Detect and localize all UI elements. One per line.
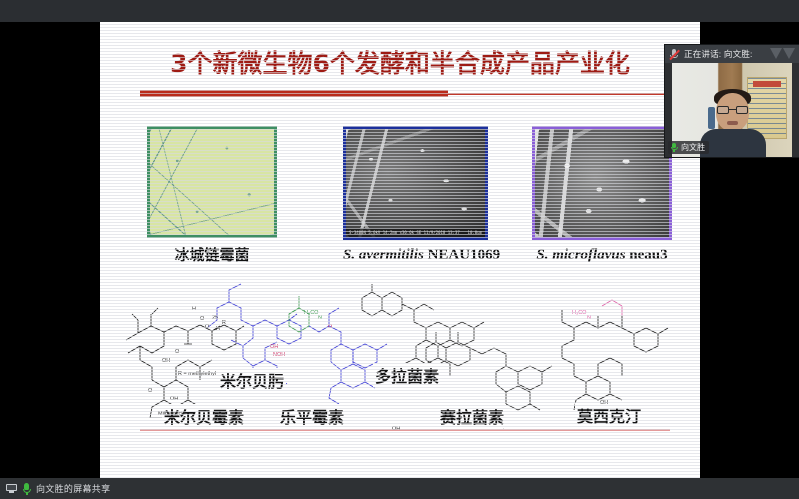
- micrograph-item: 冰城链霉菌: [147, 126, 277, 265]
- micrograph-caption-2: S. avermitilis NEAU1069: [343, 246, 488, 264]
- presentation-slide: 3个新微生物6个发酵和半合成产品产业化 冰城链霉菌 S-3400N 5.0kV …: [100, 22, 700, 478]
- chem-annotation: O: [148, 388, 152, 394]
- chem-annotation: OH: [392, 426, 400, 432]
- strain-roman: neau3: [629, 247, 667, 263]
- microphone-active-icon: [670, 143, 678, 153]
- chem-annotation: O: [175, 349, 179, 355]
- species-italic: S. avermitilis: [343, 247, 428, 263]
- title-rule-thick: [140, 90, 448, 97]
- strain-roman: NEAU1069: [428, 247, 501, 263]
- micrograph-item: S-3400N 5.0kV 14.2mm x30.0k SE 11/9/2010…: [343, 126, 488, 264]
- micrograph-row: 冰城链霉菌 S-3400N 5.0kV 14.2mm x30.0k SE 11/…: [100, 126, 700, 288]
- microphone-icon: [22, 483, 31, 495]
- video-thumbnail-panel[interactable]: 正在讲话: 向文胜: 向文胜: [665, 45, 799, 157]
- chem-annotation: H: [192, 306, 196, 312]
- chem-name-label: 米尔贝肟: [218, 368, 286, 392]
- video-panel-header[interactable]: 正在讲话: 向文胜:: [665, 45, 799, 63]
- active-speaker-label: 正在讲话: 向文胜:: [684, 48, 753, 60]
- micrograph-image-2: S-3400N 5.0kV 14.2mm x30.0k SE 11/9/2010…: [343, 126, 488, 240]
- chem-annotation: OH: [270, 344, 278, 350]
- participant-mouth: [727, 121, 738, 125]
- chem-annotation: H₃CO: [572, 310, 586, 316]
- sem-scalebar-left: S-3400N 5.0kV 14.2mm x30.0k SE 11/9/2010…: [349, 228, 460, 237]
- chem-name-label: 乐平霉素: [278, 404, 346, 428]
- chem-annotation: OH: [600, 400, 608, 406]
- chem-annotation: 25: [212, 315, 218, 321]
- top-toolbar: [0, 0, 799, 22]
- participant-name: 向文胜: [681, 142, 705, 153]
- chem-annotation: O: [328, 324, 332, 330]
- microphone-muted-icon[interactable]: [669, 49, 679, 60]
- screen-root: 3个新微生物6个发酵和半合成产品产业化 冰城链霉菌 S-3400N 5.0kV …: [0, 0, 799, 499]
- chevron-collapse-icon[interactable]: [770, 48, 795, 59]
- slide-title: 3个新微生物6个发酵和半合成产品产业化: [100, 44, 700, 80]
- bottom-status-bar: 向文胜的屏幕共享: [0, 478, 799, 499]
- micrograph-caption-3: S. microflavus neau3: [532, 246, 672, 264]
- chem-annotation: N: [587, 315, 591, 321]
- micrograph-item: S. microflavus neau3: [532, 126, 672, 264]
- chem-name-label: 莫西克汀: [575, 403, 643, 427]
- video-feed[interactable]: 向文胜: [665, 63, 799, 157]
- species-italic: S. microflavus: [536, 247, 629, 263]
- monitor-icon: [6, 484, 17, 493]
- structure-moxidectin: [552, 294, 672, 410]
- chem-annotation: R = methylethyl: [178, 371, 216, 377]
- chem-annotation: R: [222, 320, 226, 326]
- chem-annotation: Milbemycin: [158, 411, 186, 417]
- chem-annotation: O: [200, 316, 204, 322]
- micrograph-caption-1: 冰城链霉菌: [147, 244, 277, 265]
- chem-name-label: 赛拉菌素: [438, 404, 506, 428]
- chemical-structures-band: 米尔贝肟 米尔贝霉素 乐平霉素 多拉菌素 赛拉菌素 莫西克汀 Milbemyci…: [100, 290, 700, 430]
- chem-annotation: OH: [170, 396, 178, 402]
- participant-name-badge: 向文胜: [668, 141, 709, 154]
- shared-screen-area[interactable]: 3个新微生物6个发酵和半合成产品产业化 冰城链霉菌 S-3400N 5.0kV …: [100, 22, 700, 478]
- held-object: [708, 107, 715, 129]
- micrograph-image-3: [532, 126, 672, 240]
- sem-scalebar: S-3400N 5.0kV 14.2mm x30.0k SE 11/9/2010…: [346, 228, 485, 237]
- chem-annotation: N: [318, 315, 322, 321]
- screen-share-status-label: 向文胜的屏幕共享: [36, 482, 110, 495]
- chem-annotation: H: [216, 326, 220, 332]
- chem-annotation: NOH: [273, 352, 285, 358]
- chem-name-label: 多拉菌素: [373, 363, 441, 387]
- chem-annotation: O: [205, 324, 209, 330]
- micrograph-image-1: [147, 126, 277, 238]
- participant-torso: [700, 129, 766, 157]
- chem-annotation: OH: [162, 358, 170, 364]
- sem-scalebar-right: 10.0um: [468, 228, 482, 237]
- participant-glasses: [717, 106, 748, 114]
- chem-annotation: H₃CO: [304, 310, 318, 316]
